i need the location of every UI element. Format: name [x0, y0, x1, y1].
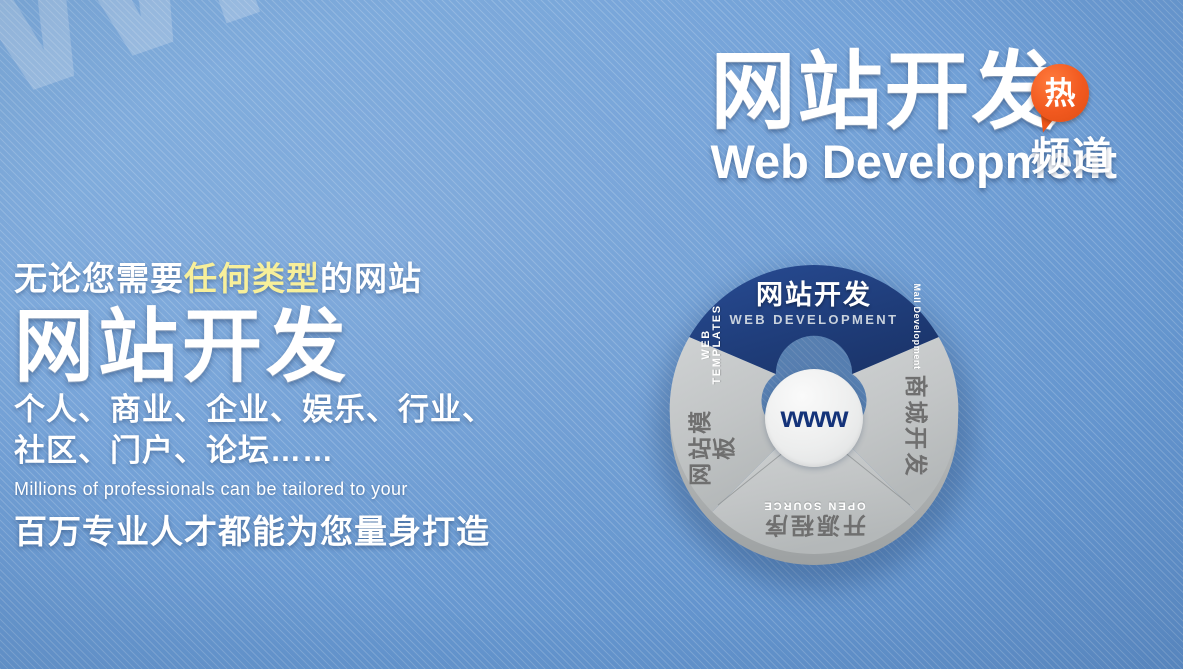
banner-header: 网站开发 Web Development 热 频道	[710, 48, 1117, 189]
copy-tagline: 无论您需要任何类型的网站	[14, 252, 494, 300]
header-channel-label: 频道	[1031, 126, 1113, 182]
copy-categories-line-2: 社区、门户、论坛……	[14, 431, 494, 472]
donut-center-label: www	[780, 403, 847, 433]
hot-badge-label: 热	[1045, 78, 1076, 109]
banner-copy-block: 无论您需要任何类型的网站 网站开发 个人、商业、企业、娱乐、行业、 社区、门户、…	[14, 252, 494, 553]
copy-tagline-suffix: 的网站	[320, 260, 422, 297]
copy-subtitle-en: Millions of professionals can be tailore…	[14, 479, 494, 500]
copy-tagline-prefix: 无论您需要	[14, 260, 184, 297]
copy-footer-cn: 百万专业人才都能为您量身打造	[14, 505, 494, 553]
copy-categories-line-1: 个人、商业、企业、娱乐、行业、	[14, 390, 494, 431]
hot-badge-icon: 热	[1031, 64, 1089, 122]
banner-stage: W.W.W	[0, 0, 1183, 669]
donut-center-hub: www	[765, 369, 863, 467]
copy-tagline-highlight: 任何类型	[184, 260, 320, 297]
service-donut-chart: www 网站开发 WEB DEVELOPMENT Mall Developmen…	[648, 243, 980, 603]
hot-badge-group: 热 频道	[1019, 64, 1139, 184]
copy-main-title: 网站开发	[14, 304, 494, 390]
